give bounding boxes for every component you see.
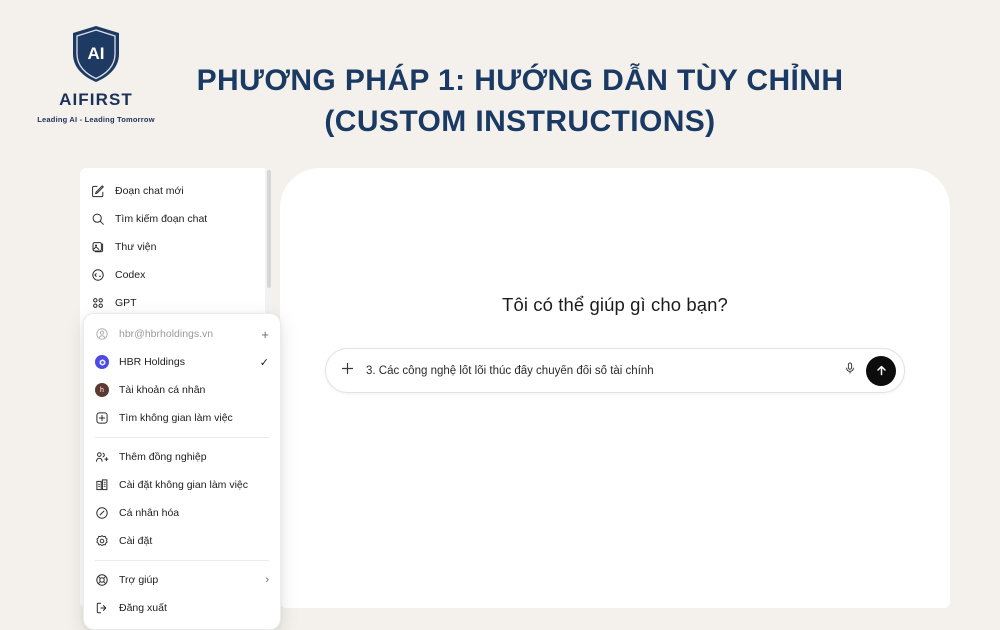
shield-icon: AI (70, 24, 122, 84)
sidebar-item-label: Đoạn chat mới (115, 185, 184, 197)
menu-item-label: Cài đặt (119, 535, 269, 547)
menu-item-workspace-settings[interactable]: Cài đặt không gian làm việc (84, 471, 280, 499)
composer-bar[interactable]: 3. Các công nghệ lốt lõi thúc đẩy chuyển… (325, 348, 905, 393)
hbr-workspace-avatar (95, 355, 109, 369)
attach-plus-icon[interactable] (340, 361, 355, 381)
menu-item-label: Trợ giúp (119, 574, 255, 586)
sidebar-item-label: Codex (115, 269, 145, 281)
library-icon (91, 240, 105, 254)
workspace-label: Tài khoản cá nhân (119, 384, 269, 396)
add-account-icon[interactable]: + (261, 328, 269, 341)
dropdown-divider-1 (95, 437, 269, 438)
sidebar-item-new-chat[interactable]: Đoạn chat mới (80, 177, 272, 205)
personal-avatar: h (95, 383, 109, 397)
logout-icon (95, 601, 109, 615)
workspace-item-personal-account[interactable]: h Tài khoản cá nhân (84, 376, 280, 404)
menu-item-label: Cài đặt không gian làm việc (119, 479, 269, 491)
codex-icon (91, 268, 105, 282)
account-email-label: hbr@hbrholdings.vn (119, 328, 251, 340)
sidebar-scrollbar-thumb[interactable] (267, 170, 271, 288)
workspace-settings-icon (95, 478, 109, 492)
workspace-item-hbr-holdings[interactable]: HBR Holdings ✓ (84, 348, 280, 376)
gpt-grid-icon (91, 296, 105, 310)
help-icon (95, 573, 109, 587)
sidebar-item-library[interactable]: Thư viện (80, 233, 272, 261)
workspace-label: HBR Holdings (119, 356, 250, 368)
brand-name: AIFIRST (33, 90, 159, 110)
greeting-text: Tôi có thể giúp gì cho bạn? (280, 294, 950, 316)
workspace-selected-check-icon: ✓ (260, 356, 269, 369)
menu-item-add-colleague[interactable]: Thêm đồng nghiệp (84, 443, 280, 471)
sidebar-item-label: Thư viện (115, 241, 156, 253)
menu-item-logout[interactable]: Đăng xuất (84, 594, 280, 622)
personalize-icon (95, 506, 109, 520)
chevron-right-icon[interactable]: › (265, 574, 269, 586)
menu-item-label: Thêm đồng nghiệp (119, 451, 269, 463)
gear-icon (95, 534, 109, 548)
dropdown-divider-2 (95, 560, 269, 561)
sidebar-item-label: GPT (115, 297, 137, 309)
menu-item-label: Cá nhân hóa (119, 507, 269, 519)
sidebar-item-label: Tìm kiếm đoạn chat (115, 213, 207, 225)
send-button[interactable] (866, 356, 896, 386)
svg-text:AI: AI (88, 44, 105, 63)
microphone-icon[interactable] (843, 361, 857, 380)
add-colleague-icon (95, 450, 109, 464)
find-workspace-label: Tìm không gian làm việc (119, 412, 269, 424)
sidebar-item-codex[interactable]: Codex (80, 261, 272, 289)
brand-tagline: Leading AI - Leading Tomorrow (33, 115, 159, 124)
menu-item-label: Đăng xuất (119, 602, 269, 614)
dropdown-account-email-row[interactable]: hbr@hbrholdings.vn + (84, 320, 280, 348)
new-chat-icon (91, 184, 105, 198)
page-title: PHƯƠNG PHÁP 1: HƯỚNG DẪN TÙY CHỈNH (CUST… (180, 60, 860, 143)
sidebar-item-search-chats[interactable]: Tìm kiếm đoạn chat (80, 205, 272, 233)
composer-input[interactable]: 3. Các công nghệ lốt lõi thúc đẩy chuyển… (366, 365, 843, 377)
menu-item-personalize[interactable]: Cá nhân hóa (84, 499, 280, 527)
brand-logo: AI AIFIRST Leading AI - Leading Tomorrow (33, 24, 159, 124)
menu-item-settings[interactable]: Cài đặt (84, 527, 280, 555)
find-workspace-item[interactable]: Tìm không gian làm việc (84, 404, 280, 432)
main-panel: Tôi có thể giúp gì cho bạn? 3. Các công … (280, 168, 950, 608)
account-dropdown-menu: hbr@hbrholdings.vn + HBR Holdings ✓ h Tà… (83, 313, 281, 630)
menu-item-help[interactable]: Trợ giúp › (84, 566, 280, 594)
plus-box-icon (95, 411, 109, 425)
account-circle-icon (95, 327, 109, 341)
app-screenshot: Tôi có thể giúp gì cho bạn? 3. Các công … (80, 168, 950, 608)
search-icon (91, 212, 105, 226)
sidebar-nav-list: Đoạn chat mới Tìm kiếm đoạn chat (80, 168, 272, 317)
